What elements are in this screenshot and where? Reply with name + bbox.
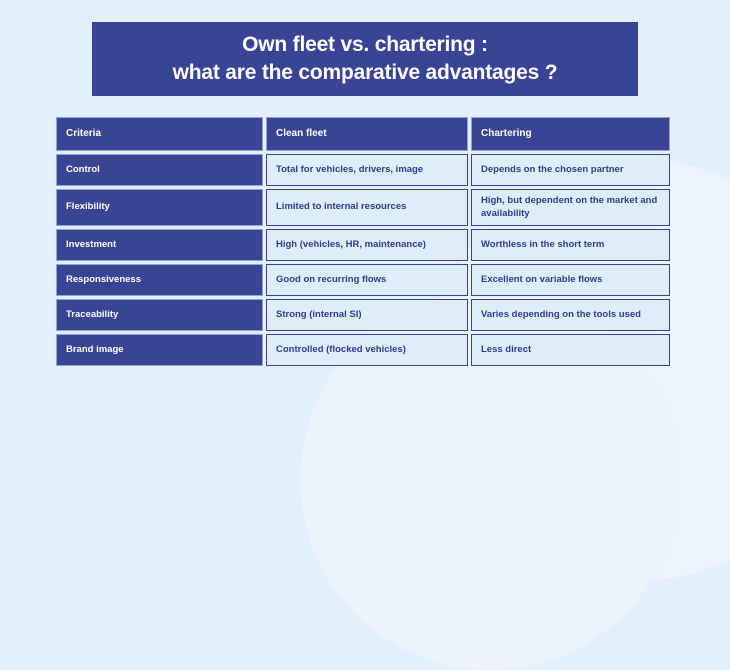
comparison-table: Criteria Clean fleet Chartering Control … [56,117,670,366]
table-row: Responsiveness Good on recurring flows E… [56,264,670,296]
row-clean-fleet-value: Good on recurring flows [266,264,468,296]
column-header-criteria: Criteria [56,117,263,151]
row-chartering-value: High, but dependent on the market and av… [471,189,670,226]
table-row: Investment High (vehicles, HR, maintenan… [56,229,670,261]
title-line-2: what are the comparative advantages ? [173,59,558,87]
title-line-1: Own fleet vs. chartering : [242,31,488,59]
row-criteria-label: Investment [56,229,263,261]
row-criteria-label: Flexibility [56,189,263,226]
row-criteria-label: Traceability [56,299,263,331]
table-header-row: Criteria Clean fleet Chartering [56,117,670,151]
row-criteria-label: Brand image [56,334,263,366]
row-chartering-value: Depends on the chosen partner [471,154,670,186]
table-row: Control Total for vehicles, drivers, ima… [56,154,670,186]
row-criteria-label: Responsiveness [56,264,263,296]
column-header-chartering: Chartering [471,117,670,151]
column-header-clean-fleet: Clean fleet [266,117,468,151]
slide-title-block: Own fleet vs. chartering : what are the … [92,22,638,96]
row-chartering-value: Less direct [471,334,670,366]
table-row: Flexibility Limited to internal resource… [56,189,670,226]
row-chartering-value: Excellent on variable flows [471,264,670,296]
row-clean-fleet-value: Controlled (flocked vehicles) [266,334,468,366]
table-row: Brand image Controlled (flocked vehicles… [56,334,670,366]
slide-canvas: Own fleet vs. chartering : what are the … [0,0,730,410]
row-chartering-value: Varies depending on the tools used [471,299,670,331]
table-row: Traceability Strong (internal SI) Varies… [56,299,670,331]
row-clean-fleet-value: Strong (internal SI) [266,299,468,331]
row-criteria-label: Control [56,154,263,186]
row-clean-fleet-value: High (vehicles, HR, maintenance) [266,229,468,261]
row-clean-fleet-value: Total for vehicles, drivers, image [266,154,468,186]
row-clean-fleet-value: Limited to internal resources [266,189,468,226]
row-chartering-value: Worthless in the short term [471,229,670,261]
